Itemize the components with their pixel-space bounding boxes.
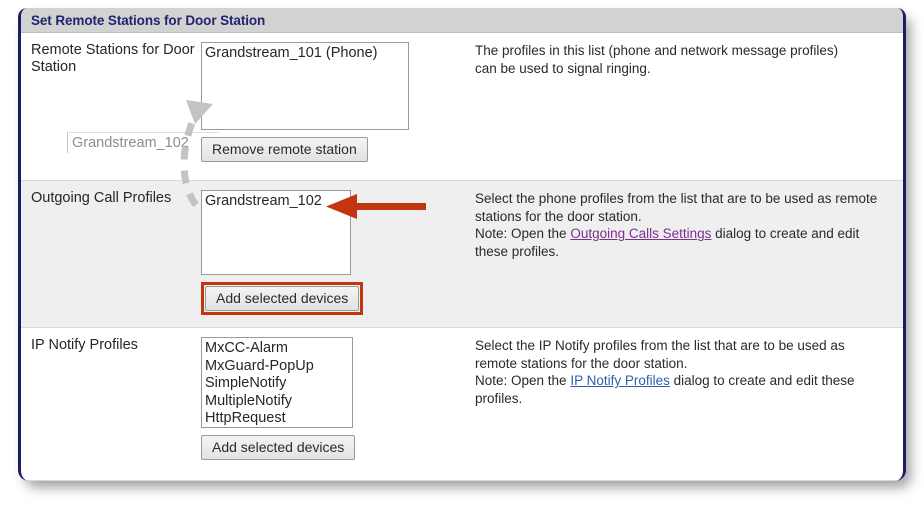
list-item[interactable]: MxCC-Alarm bbox=[205, 340, 349, 358]
drag-ghost-label: Grandstream_102 bbox=[67, 132, 219, 153]
list-item[interactable]: MxGuard-PopUp bbox=[205, 358, 349, 376]
outgoing-calls-settings-link[interactable]: Outgoing Calls Settings bbox=[570, 226, 711, 241]
ip-notify-profiles-link[interactable]: IP Notify Profiles bbox=[570, 373, 670, 388]
row-controls-ip-notify-profiles: MxCC-Alarm MxGuard-PopUp SimpleNotify Mu… bbox=[201, 328, 466, 480]
row-ip-notify-profiles: IP Notify Profiles MxCC-Alarm MxGuard-Po… bbox=[21, 328, 903, 481]
row-label-remote-stations: Remote Stations for Door Station bbox=[21, 33, 201, 180]
description-text: Select the phone profiles from the list … bbox=[475, 191, 877, 224]
list-item[interactable]: Grandstream_102 bbox=[205, 193, 347, 211]
description-text: Select the IP Notify profiles from the l… bbox=[475, 338, 845, 371]
panel-title-bar: Set Remote Stations for Door Station bbox=[21, 8, 903, 33]
description-note-prefix: Note: Open the bbox=[475, 373, 570, 388]
row-outgoing-call-profiles: Outgoing Call Profiles Grandstream_102 A… bbox=[21, 181, 903, 328]
remove-remote-station-button[interactable]: Remove remote station bbox=[201, 137, 368, 162]
list-item[interactable]: SimpleNotify bbox=[205, 375, 349, 393]
row-label-ip-notify-profiles: IP Notify Profiles bbox=[21, 328, 201, 480]
remote-stations-listbox[interactable]: Grandstream_101 (Phone) bbox=[201, 42, 409, 130]
row-remote-stations: Remote Stations for Door Station Grandst… bbox=[21, 33, 903, 181]
description-note-prefix: Note: Open the bbox=[475, 226, 570, 241]
row-label-outgoing-call-profiles: Outgoing Call Profiles bbox=[21, 181, 201, 327]
row-controls-remote-stations: Grandstream_101 (Phone) Remove remote st… bbox=[201, 33, 466, 180]
list-item[interactable]: MultipleNotify bbox=[205, 393, 349, 411]
settings-panel: Set Remote Stations for Door Station Rem… bbox=[18, 8, 906, 481]
add-selected-devices-button-notify[interactable]: Add selected devices bbox=[201, 435, 355, 460]
list-item[interactable]: Grandstream_101 (Phone) bbox=[205, 45, 405, 63]
row-description-ip-notify-profiles: Select the IP Notify profiles from the l… bbox=[466, 328, 903, 480]
page-title: Set Remote Stations for Door Station bbox=[31, 13, 265, 28]
red-highlight-box: Add selected devices bbox=[201, 282, 363, 315]
description-line-2: can be used to signal ringing. bbox=[475, 60, 889, 78]
row-description-remote-stations: The profiles in this list (phone and net… bbox=[466, 33, 903, 180]
row-controls-outgoing-call-profiles: Grandstream_102 Add selected devices bbox=[201, 181, 466, 327]
list-item[interactable]: HttpRequest bbox=[205, 410, 349, 428]
description-line-1: The profiles in this list (phone and net… bbox=[475, 42, 889, 60]
ip-notify-profiles-listbox[interactable]: MxCC-Alarm MxGuard-PopUp SimpleNotify Mu… bbox=[201, 337, 353, 428]
row-description-outgoing-call-profiles: Select the phone profiles from the list … bbox=[466, 181, 903, 327]
add-selected-devices-button-outgoing[interactable]: Add selected devices bbox=[205, 286, 359, 311]
outgoing-call-profiles-listbox[interactable]: Grandstream_102 bbox=[201, 190, 351, 275]
